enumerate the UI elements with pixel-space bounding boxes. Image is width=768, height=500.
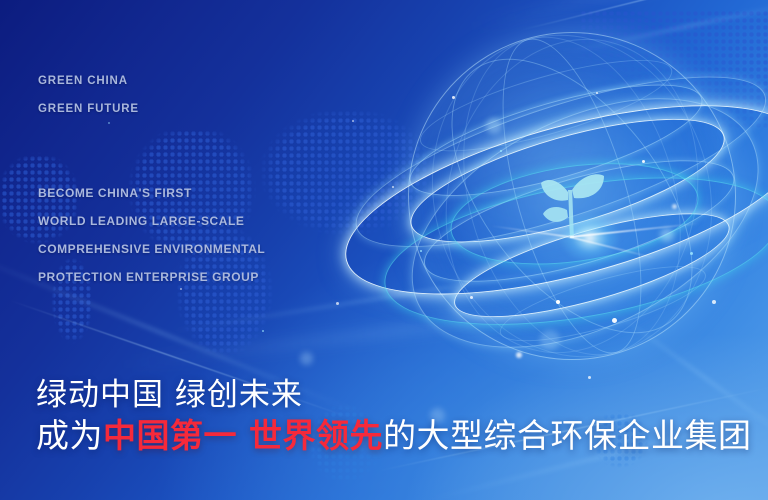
particle-15 xyxy=(180,288,182,290)
particle-4 xyxy=(642,160,645,163)
particle-13 xyxy=(336,302,339,305)
eyebrow-line-2: GREEN FUTURE xyxy=(38,103,139,115)
eyebrow-line-1: GREEN CHINA xyxy=(38,75,128,87)
bokeh-1 xyxy=(486,118,502,134)
claim-line-2: WORLD LEADING LARGE-SCALE xyxy=(38,214,244,228)
particle-6 xyxy=(556,300,560,304)
bokeh-2 xyxy=(660,228,674,242)
particle-7 xyxy=(612,318,617,323)
particle-1 xyxy=(452,96,455,99)
bokeh-3 xyxy=(540,330,560,350)
particle-14 xyxy=(262,330,264,332)
particle-10 xyxy=(392,186,394,188)
particle-16 xyxy=(108,122,110,124)
headline-prefix: 成为 xyxy=(36,416,103,455)
headline-line-2: 成为中国第一 世界领先的大型综合环保企业集团 xyxy=(36,409,752,457)
claim-line-3: COMPREHENSIVE ENVIRONMENTAL xyxy=(38,242,265,256)
sprout-seedling xyxy=(522,160,618,260)
particle-12 xyxy=(672,204,677,209)
claim-line-1: BECOME CHINA'S FIRST xyxy=(38,186,192,200)
headline-suffix: 的大型综合环保企业集团 xyxy=(383,416,752,455)
particle-5 xyxy=(690,252,693,255)
particle-9 xyxy=(420,250,422,252)
particle-17 xyxy=(712,300,716,304)
bokeh-4 xyxy=(300,352,313,365)
particle-11 xyxy=(516,352,522,358)
particle-3 xyxy=(596,92,598,94)
headline-highlight: 中国第一 世界领先 xyxy=(103,416,383,455)
claim-line-4: PROTECTION ENTERPRISE GROUP xyxy=(38,270,259,284)
particle-8 xyxy=(470,296,473,299)
particle-18 xyxy=(588,376,591,379)
headline-line-1: 绿动中国 绿创未来 xyxy=(36,369,303,414)
hero-banner: GREEN CHINA GREEN FUTURE BECOME CHINA'S … xyxy=(0,0,768,500)
sprout-light-burst xyxy=(547,203,633,273)
particle-20 xyxy=(352,120,354,122)
particle-2 xyxy=(500,150,502,152)
